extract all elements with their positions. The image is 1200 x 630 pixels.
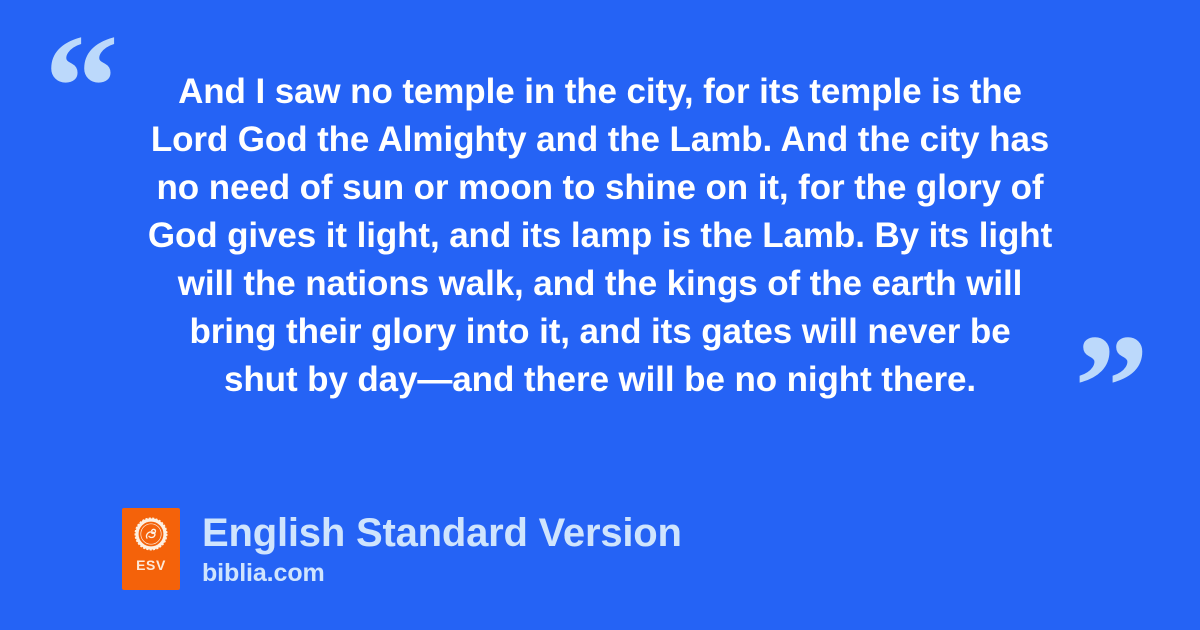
closing-quote-icon: ” <box>1074 312 1149 462</box>
quote-line: God gives it light, and its lamp is the … <box>100 212 1100 260</box>
quote-line: bring their glory into it, and its gates… <box>100 308 1100 356</box>
quote-line: will the nations walk, and the kings of … <box>100 260 1100 308</box>
esv-seal-icon <box>134 517 168 551</box>
bible-verse-card: “ And I saw no temple in the city, for i… <box>0 0 1200 630</box>
site-url-label: biblia.com <box>202 558 682 588</box>
esv-badge-label: ESV <box>136 558 166 572</box>
quote-line: And I saw no temple in the city, for its… <box>100 68 1100 116</box>
quote-line: Lord God the Almighty and the Lamb. And … <box>100 116 1100 164</box>
quote-text-block: And I saw no temple in the city, for its… <box>100 68 1100 404</box>
bible-version-name: English Standard Version <box>202 510 682 556</box>
footer-attribution: ESV English Standard Version biblia.com <box>122 508 682 590</box>
footer-text-group: English Standard Version biblia.com <box>202 508 682 588</box>
quote-line: no need of sun or moon to shine on it, f… <box>100 164 1100 212</box>
quote-line: shut by day—and there will be no night t… <box>100 356 1100 404</box>
esv-logo-badge: ESV <box>122 508 180 590</box>
